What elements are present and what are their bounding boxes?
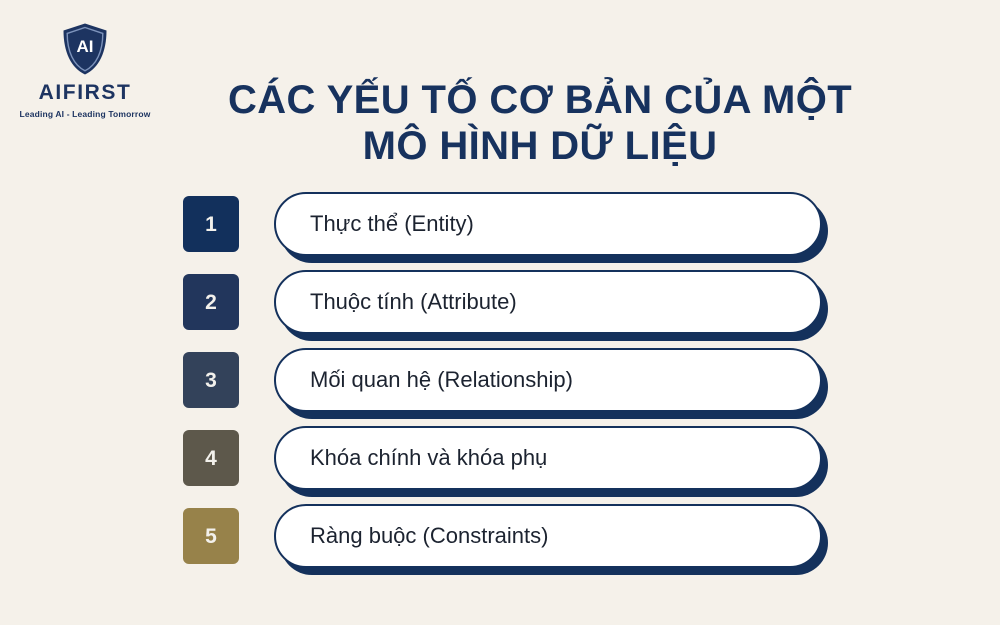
brand-wordmark: AIFIRST <box>39 82 132 103</box>
list-item: 3 Mối quan hệ (Relationship) <box>183 352 943 408</box>
brand-tagline: Leading AI - Leading Tomorrow <box>20 110 151 119</box>
list-item-pill: Ràng buộc (Constraints) <box>274 504 822 568</box>
list-item: 5 Ràng buộc (Constraints) <box>183 508 943 564</box>
pill-body: Thực thể (Entity) <box>274 192 822 256</box>
list-item: 2 Thuộc tính (Attribute) <box>183 274 943 330</box>
brand-logo: AI AIFIRST Leading AI - Leading Tomorrow <box>20 22 150 119</box>
list-item-pill: Thực thể (Entity) <box>274 192 822 256</box>
list-item-pill: Mối quan hệ (Relationship) <box>274 348 822 412</box>
page-title-line-2: MÔ HÌNH DỮ LIỆU <box>180 123 900 169</box>
list-item-label: Mối quan hệ (Relationship) <box>276 369 573 391</box>
list-item-label: Ràng buộc (Constraints) <box>276 525 548 547</box>
list-item-number-badge: 3 <box>183 352 239 408</box>
page-title: CÁC YẾU TỐ CƠ BẢN CỦA MỘT MÔ HÌNH DỮ LIỆ… <box>180 77 900 170</box>
list-item-label: Thuộc tính (Attribute) <box>276 291 517 313</box>
pill-body: Khóa chính và khóa phụ <box>274 426 822 490</box>
list-item-number-badge: 1 <box>183 196 239 252</box>
page-title-line-1: CÁC YẾU TỐ CƠ BẢN CỦA MỘT <box>180 77 900 123</box>
elements-list: 1 Thực thể (Entity) 2 Thuộc tính (Attrib… <box>183 196 943 564</box>
list-item: 1 Thực thể (Entity) <box>183 196 943 252</box>
list-item-pill: Thuộc tính (Attribute) <box>274 270 822 334</box>
list-item-pill: Khóa chính và khóa phụ <box>274 426 822 490</box>
pill-body: Ràng buộc (Constraints) <box>274 504 822 568</box>
list-item-number-badge: 5 <box>183 508 239 564</box>
pill-body: Thuộc tính (Attribute) <box>274 270 822 334</box>
list-item: 4 Khóa chính và khóa phụ <box>183 430 943 486</box>
list-item-number-badge: 2 <box>183 274 239 330</box>
svg-text:AI: AI <box>77 37 94 56</box>
pill-body: Mối quan hệ (Relationship) <box>274 348 822 412</box>
list-item-label: Khóa chính và khóa phụ <box>276 447 547 469</box>
list-item-label: Thực thể (Entity) <box>276 213 474 235</box>
shield-ai-monogram-icon: AI <box>61 22 109 76</box>
list-item-number-badge: 4 <box>183 430 239 486</box>
